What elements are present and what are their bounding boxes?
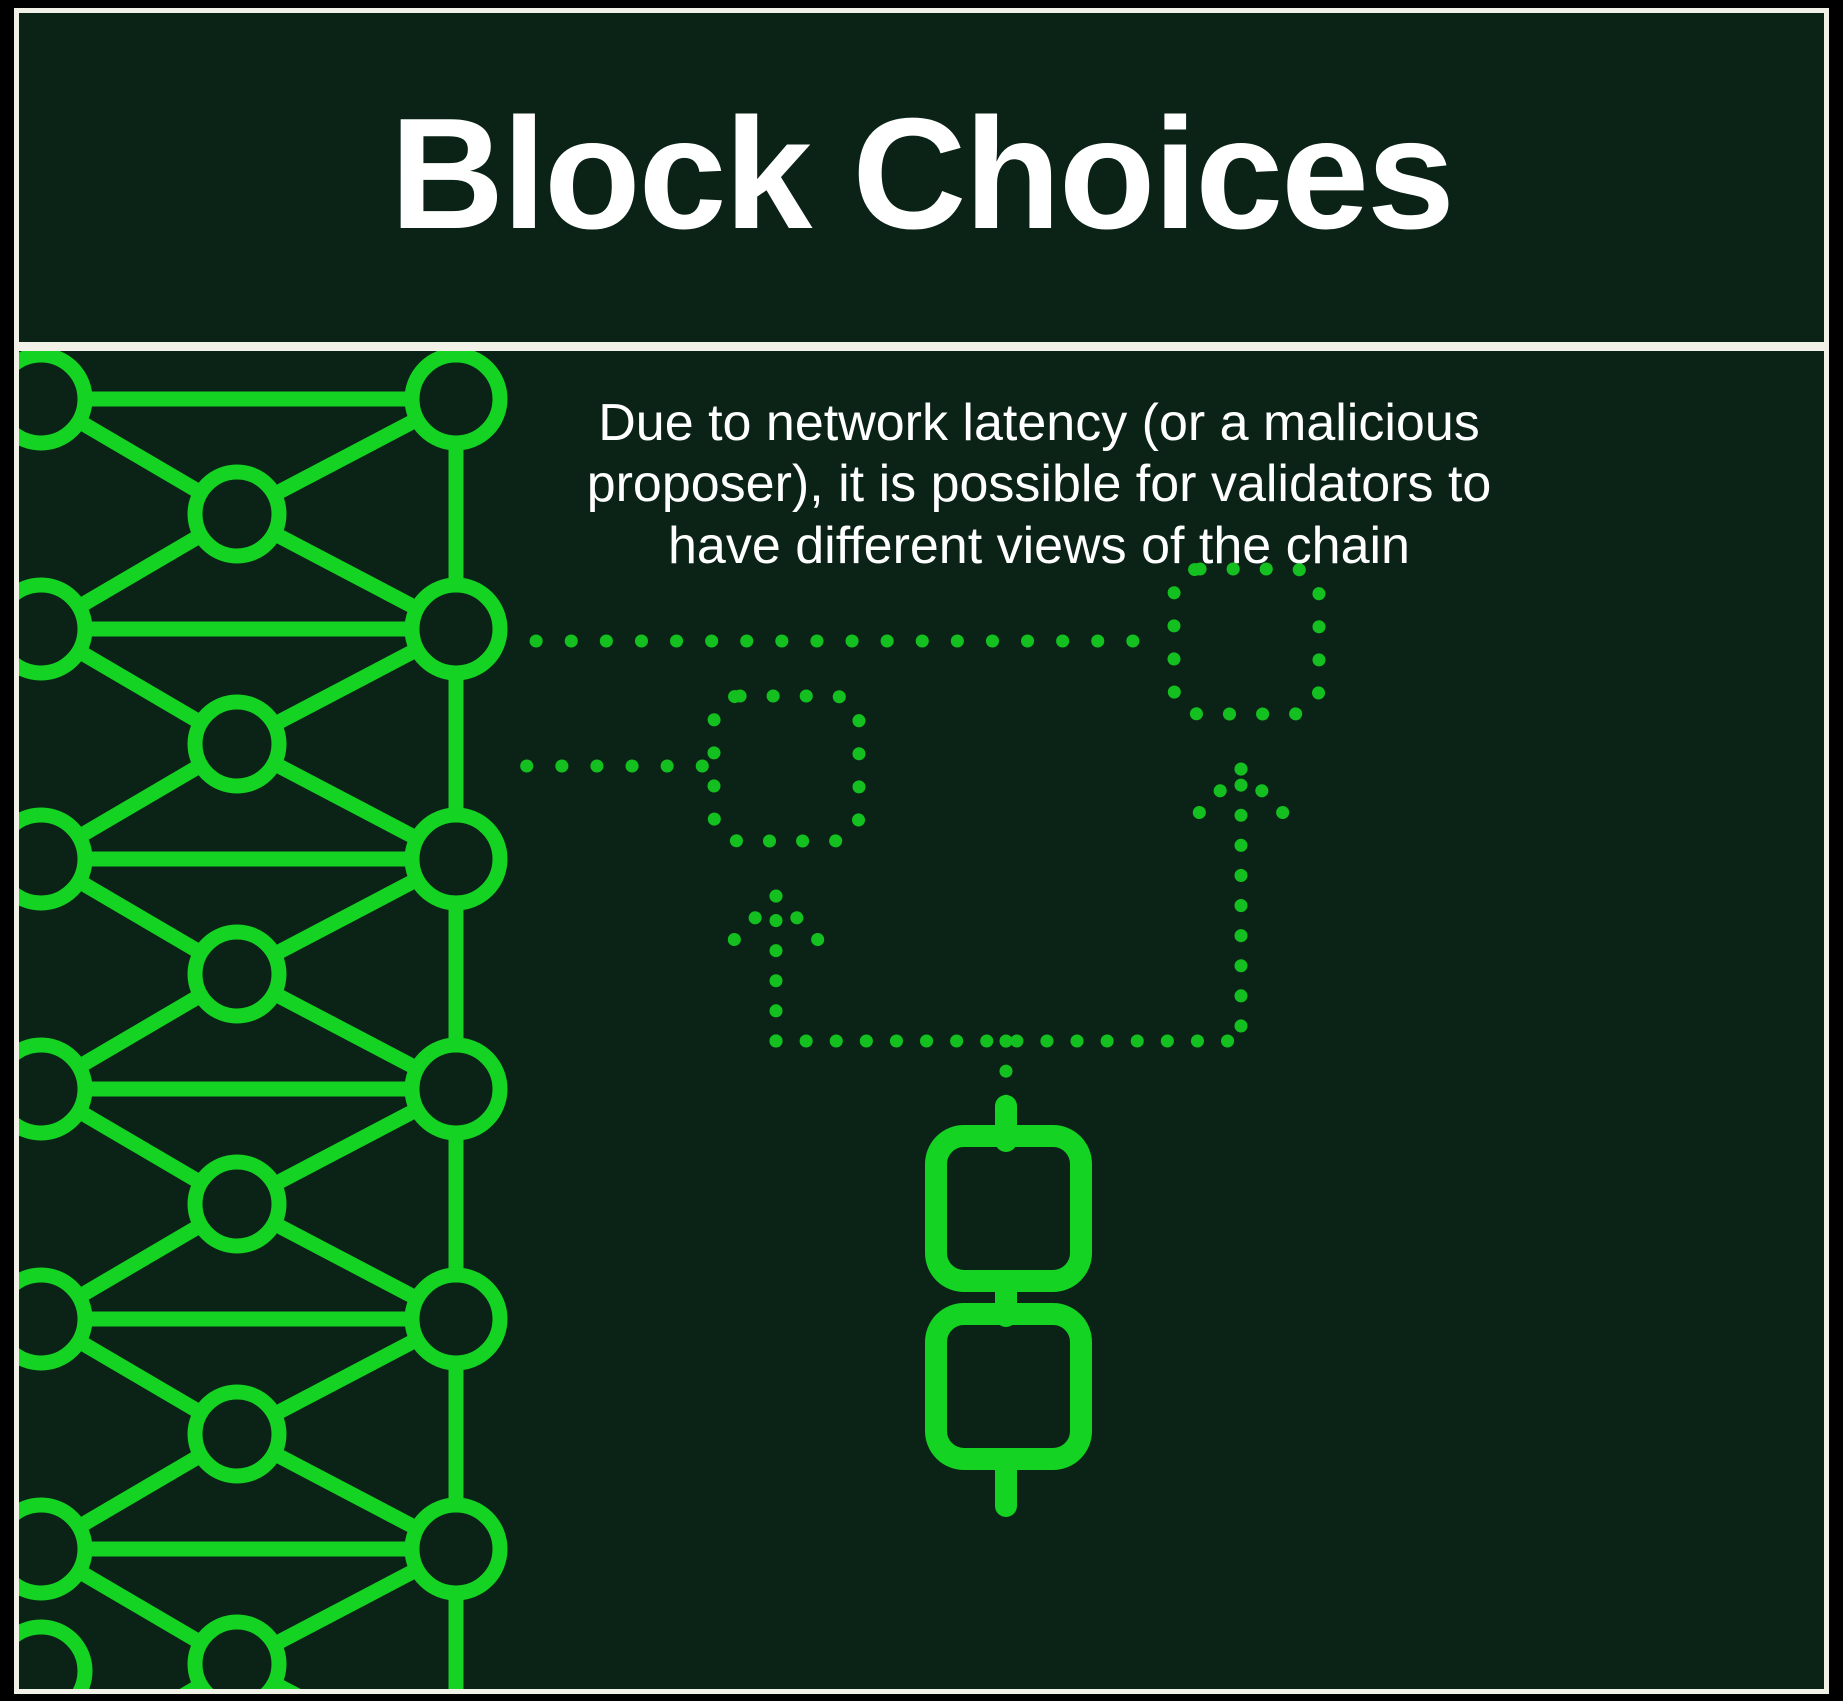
- validator-node: [195, 1162, 279, 1246]
- validator-node: [19, 585, 85, 673]
- canonical-block-1: [936, 1136, 1081, 1281]
- fork-block-middle-left: [714, 696, 859, 841]
- validator-node: [412, 1505, 500, 1593]
- fork-block-upper-right: [1174, 569, 1319, 714]
- validator-node: [412, 355, 500, 443]
- validator-node: [19, 1505, 85, 1593]
- validator-node: [195, 702, 279, 786]
- validator-node: [19, 1275, 85, 1363]
- slide-root: Block Choices Due to network latency (or…: [0, 0, 1843, 1701]
- chain-fork-diagram: [519, 351, 1824, 1689]
- validator-node: [19, 1627, 85, 1689]
- validator-network-graph: [19, 351, 519, 1689]
- validator-node: [195, 1622, 279, 1689]
- validator-node: [195, 472, 279, 556]
- validator-node: [19, 355, 85, 443]
- validator-node: [19, 1045, 85, 1133]
- page-title: Block Choices: [390, 95, 1453, 253]
- slide-content: Due to network latency (or a malicious p…: [19, 351, 1824, 1689]
- validator-node-highlighted: [195, 932, 279, 1016]
- validator-node: [19, 815, 85, 903]
- title-band: Block Choices: [19, 13, 1824, 351]
- validator-node-highlighted: [412, 585, 500, 673]
- validator-node: [195, 1392, 279, 1476]
- dotted-arrow-right: [1196, 769, 1286, 1026]
- canonical-block-2: [936, 1314, 1081, 1459]
- validator-node: [412, 815, 500, 903]
- dotted-arrow-left: [731, 896, 821, 1041]
- validator-node: [412, 1275, 500, 1363]
- slide-frame: Block Choices Due to network latency (or…: [14, 8, 1829, 1694]
- validator-node: [412, 1045, 500, 1133]
